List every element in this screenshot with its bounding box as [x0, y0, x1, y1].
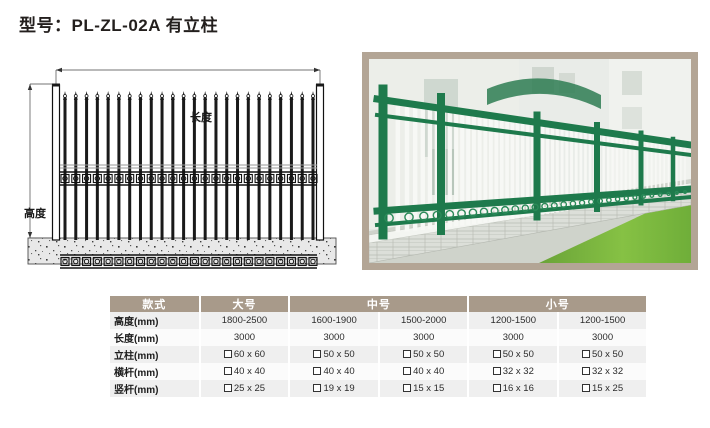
square-profile-icon [224, 367, 232, 375]
picket-tip-ring [214, 95, 217, 98]
picket-bar [171, 99, 174, 240]
table-header-row: 款式 大号 中号 小号 [110, 296, 646, 312]
square-profile-icon [582, 367, 590, 375]
picket-bar [117, 99, 120, 240]
table-cell: 40 x 40 [200, 363, 290, 380]
table-row-label: 长度(mm) [110, 329, 200, 346]
table-header-small: 小号 [468, 296, 646, 312]
photo-svg [369, 59, 691, 263]
square-profile-icon [313, 350, 321, 358]
square-profile-icon [493, 384, 501, 392]
page-title: 型号：PL-ZL-02A 有立柱 [19, 11, 218, 36]
picket-bar [74, 99, 77, 240]
table-cell: 1200-1500 [468, 312, 558, 329]
table-cell: 40 x 40 [379, 363, 469, 380]
picket-bar [64, 99, 67, 240]
square-profile-icon [313, 367, 321, 375]
table-cell: 50 x 50 [379, 346, 469, 363]
picket-bar [279, 99, 282, 240]
table-row: 长度(mm)30003000300030003000 [110, 329, 646, 346]
table-cell: 50 x 50 [468, 346, 558, 363]
length-dimension-label: 长度 [190, 109, 212, 125]
table-cell: 1800-2500 [200, 312, 290, 329]
picket-bar [225, 99, 228, 240]
fence-photo [369, 59, 691, 263]
picket-bar [258, 99, 261, 240]
picket-tip-ring [107, 95, 110, 98]
table-cell: 25 x 25 [200, 380, 290, 397]
picket-bar [150, 99, 153, 240]
picket-bar [182, 99, 185, 240]
fence-post-right [316, 84, 324, 241]
picket-tip-ring [258, 95, 261, 98]
table-cell: 16 x 16 [468, 380, 558, 397]
picket-tip-ring [193, 95, 196, 98]
upper-rail [60, 165, 317, 185]
table-cell: 32 x 32 [468, 363, 558, 380]
table-row: 横杆(mm)40 x 4040 x 4040 x 4032 x 3232 x 3… [110, 363, 646, 380]
square-profile-icon [582, 350, 590, 358]
table-cell: 3000 [379, 329, 469, 346]
square-profile-icon [493, 367, 501, 375]
table-cell: 60 x 60 [200, 346, 290, 363]
picket-bar [268, 99, 271, 240]
table-cell: 3000 [200, 329, 290, 346]
drawing-svg [8, 48, 360, 288]
square-profile-icon [224, 350, 232, 358]
length-dimension-line [56, 68, 320, 92]
picket-tip-ring [128, 95, 131, 98]
picket-tip-ring [150, 95, 153, 98]
picket-tip-ring [74, 95, 77, 98]
fence-photo-frame [362, 52, 698, 270]
picket-tip-ring [171, 95, 174, 98]
picket-tip-ring [225, 95, 228, 98]
square-profile-icon [403, 384, 411, 392]
square-profile-icon [403, 367, 411, 375]
picket-bar [128, 99, 131, 240]
square-profile-icon [313, 384, 321, 392]
picket-tip-ring [64, 95, 67, 98]
picket-bar [290, 99, 293, 240]
table-cell: 3000 [289, 329, 379, 346]
picket-tip-ring [85, 95, 88, 98]
picket-tip-ring [161, 95, 164, 98]
table-cell: 1200-1500 [558, 312, 646, 329]
picket-bar [139, 99, 142, 240]
picket-tip-ring [268, 95, 271, 98]
table-row: 立柱(mm)60 x 6050 x 5050 x 5050 x 5050 x 5… [110, 346, 646, 363]
table-row-label: 横杆(mm) [110, 363, 200, 380]
table-cell: 3000 [468, 329, 558, 346]
square-profile-icon [493, 350, 501, 358]
table-cell: 40 x 40 [289, 363, 379, 380]
table-header-style: 款式 [110, 296, 200, 312]
fence-post-left [52, 84, 60, 241]
picket-bar [312, 99, 315, 240]
picket-bar [96, 99, 99, 240]
fence-technical-drawing: 长度 高度 [8, 48, 360, 288]
table-header-medium: 中号 [289, 296, 468, 312]
picket-tip-ring [236, 95, 239, 98]
picket-tip-ring [182, 95, 185, 98]
picket-bar [236, 99, 239, 240]
specification-table: 款式 大号 中号 小号 高度(mm)1800-25001600-19001500… [110, 296, 646, 397]
table-cell: 1600-1900 [289, 312, 379, 329]
picket-tip-ring [96, 95, 99, 98]
picket-bar [247, 99, 250, 240]
picket-tip-ring [139, 95, 142, 98]
table-cell: 15 x 25 [558, 380, 646, 397]
picket-bar [214, 99, 217, 240]
picket-bar [85, 99, 88, 240]
table-body: 高度(mm)1800-25001600-19001500-20001200-15… [110, 312, 646, 397]
table-cell: 19 x 19 [289, 380, 379, 397]
table-row-label: 竖杆(mm) [110, 380, 200, 397]
picket-tip-ring [117, 95, 120, 98]
picket-tip-ring [301, 95, 304, 98]
height-dimension-label: 高度 [24, 205, 46, 221]
picket-bar [161, 99, 164, 240]
picket-bar [301, 99, 304, 240]
table-row: 高度(mm)1800-25001600-19001500-20001200-15… [110, 312, 646, 329]
table-header-large: 大号 [200, 296, 290, 312]
table-cell: 50 x 50 [289, 346, 379, 363]
table-row-label: 高度(mm) [110, 312, 200, 329]
table-cell: 3000 [558, 329, 646, 346]
picket-bar [107, 99, 110, 240]
picket-tip-ring [279, 95, 282, 98]
picket-tip-ring [312, 95, 315, 98]
square-profile-icon [403, 350, 411, 358]
picket-tip-ring [247, 95, 250, 98]
picket-tip-ring [290, 95, 293, 98]
table-cell: 50 x 50 [558, 346, 646, 363]
table-row: 竖杆(mm)25 x 2519 x 1915 x 1516 x 1615 x 2… [110, 380, 646, 397]
table-row-label: 立柱(mm) [110, 346, 200, 363]
square-profile-icon [224, 384, 232, 392]
table-cell: 1500-2000 [379, 312, 469, 329]
square-profile-icon [582, 384, 590, 392]
table-cell: 15 x 15 [379, 380, 469, 397]
table-cell: 32 x 32 [558, 363, 646, 380]
picket-tip-ring [204, 95, 207, 98]
